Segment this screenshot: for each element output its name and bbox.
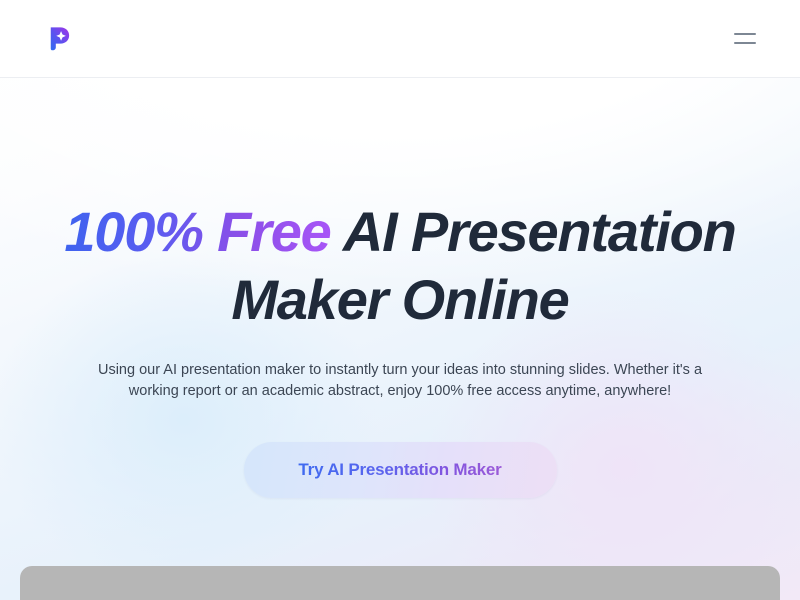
hero-section: 100% Free AI Presentation Maker Online U… (0, 78, 800, 600)
presentation-p-logo-icon (44, 24, 74, 54)
page-title: 100% Free AI Presentation Maker Online (0, 198, 800, 334)
hamburger-menu-icon[interactable] (730, 26, 756, 52)
hero-subtitle: Using our AI presentation maker to insta… (80, 360, 720, 402)
menu-line-2 (734, 42, 756, 44)
media-placeholder-panel[interactable] (20, 566, 780, 600)
try-ai-presentation-maker-button[interactable]: Try AI Presentation Maker (244, 442, 557, 498)
headline-accent: 100% Free (64, 200, 330, 263)
cta-container: Try AI Presentation Maker (244, 442, 557, 498)
site-header (0, 0, 800, 78)
brand-logo-link[interactable] (44, 24, 74, 54)
menu-line-1 (734, 33, 756, 35)
cta-button-label: Try AI Presentation Maker (298, 460, 501, 480)
